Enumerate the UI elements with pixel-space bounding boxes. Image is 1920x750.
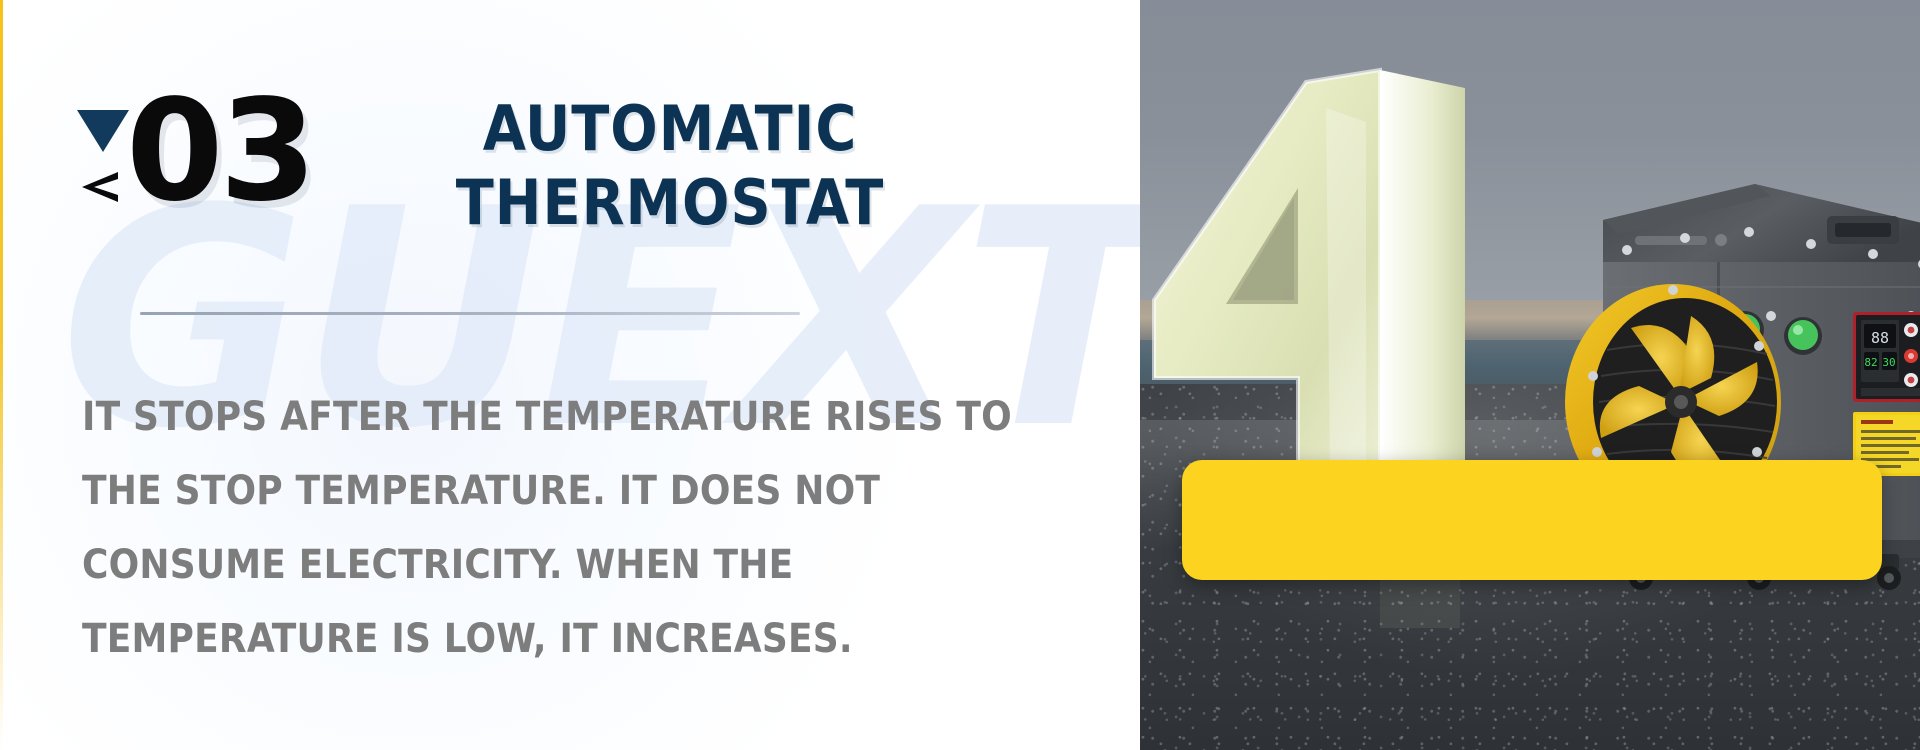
feature-title-line-1: AUTOMATIC bbox=[314, 92, 1026, 166]
chevron-left-icon bbox=[78, 166, 122, 210]
feature-description: IT STOPS AFTER THE TEMPERATURE RISES TO … bbox=[82, 380, 1117, 676]
left-text-panel: GUEXTO 03 AUTOMATIC THERMOSTAT bbox=[0, 0, 1140, 750]
step-number-block: 03 bbox=[64, 88, 314, 238]
cta-banner[interactable] bbox=[1182, 460, 1882, 580]
svg-text:82: 82 bbox=[1864, 356, 1877, 369]
feature-title: AUTOMATIC THERMOSTAT bbox=[314, 88, 1074, 240]
feature-description-line-4: TEMPERATURE IS LOW, IT INCREASES. bbox=[82, 602, 1117, 676]
svg-text:30: 30 bbox=[1882, 356, 1895, 369]
headline-row: 03 AUTOMATIC THERMOSTAT bbox=[64, 88, 1074, 240]
feature-description-line-2: THE STOP TEMPERATURE. IT DOES NOT bbox=[82, 454, 1117, 528]
feature-description-line-3: CONSUME ELECTRICITY. WHEN THE bbox=[82, 528, 1117, 602]
triangle-down-icon bbox=[77, 110, 129, 152]
left-edge-accent-rule bbox=[0, 0, 3, 750]
step-number: 03 bbox=[126, 82, 313, 222]
feature-banner: GUEXTO 03 AUTOMATIC THERMOSTAT bbox=[0, 0, 1920, 750]
title-divider bbox=[140, 312, 800, 315]
svg-text:88: 88 bbox=[1871, 329, 1889, 347]
feature-title-line-2: THERMOSTAT bbox=[314, 166, 1026, 240]
feature-description-line-1: IT STOPS AFTER THE TEMPERATURE RISES TO bbox=[82, 380, 1117, 454]
product-photo-panel: 88 82 30 bbox=[1140, 0, 1920, 750]
